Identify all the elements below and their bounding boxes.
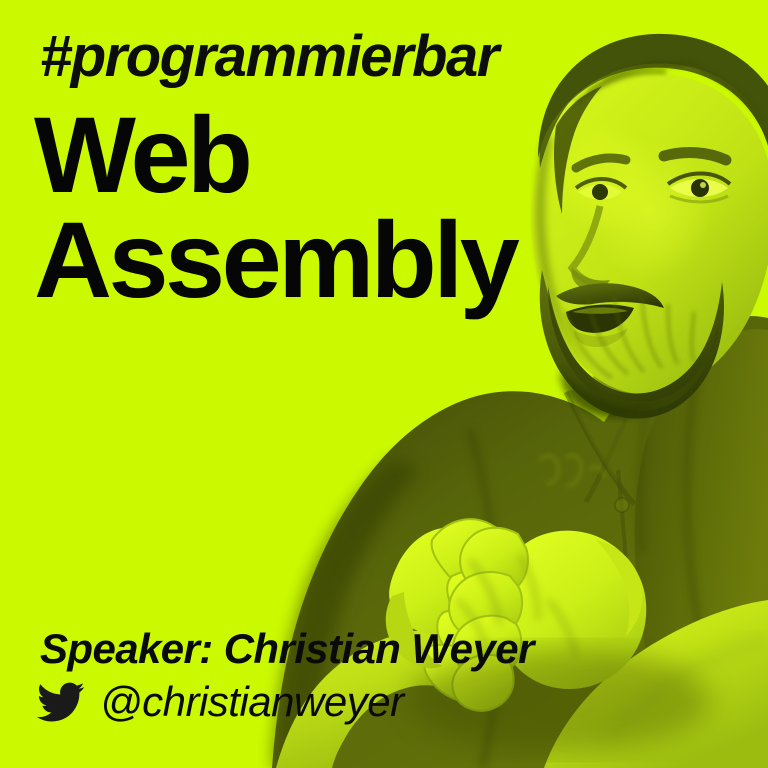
page-title: Web Assembly bbox=[34, 103, 516, 313]
cover-text-layer: #programmierbar Web Assembly Speaker: Ch… bbox=[0, 0, 768, 768]
twitter-handle-row: @christianweyer bbox=[32, 678, 404, 726]
podcast-hashtag: #programmierbar bbox=[40, 28, 498, 86]
speaker-label: Speaker: Christian Weyer bbox=[40, 628, 534, 670]
twitter-bird-icon bbox=[32, 678, 90, 726]
podcast-cover: #programmierbar Web Assembly Speaker: Ch… bbox=[0, 0, 768, 768]
twitter-handle-text: @christianweyer bbox=[100, 681, 404, 723]
